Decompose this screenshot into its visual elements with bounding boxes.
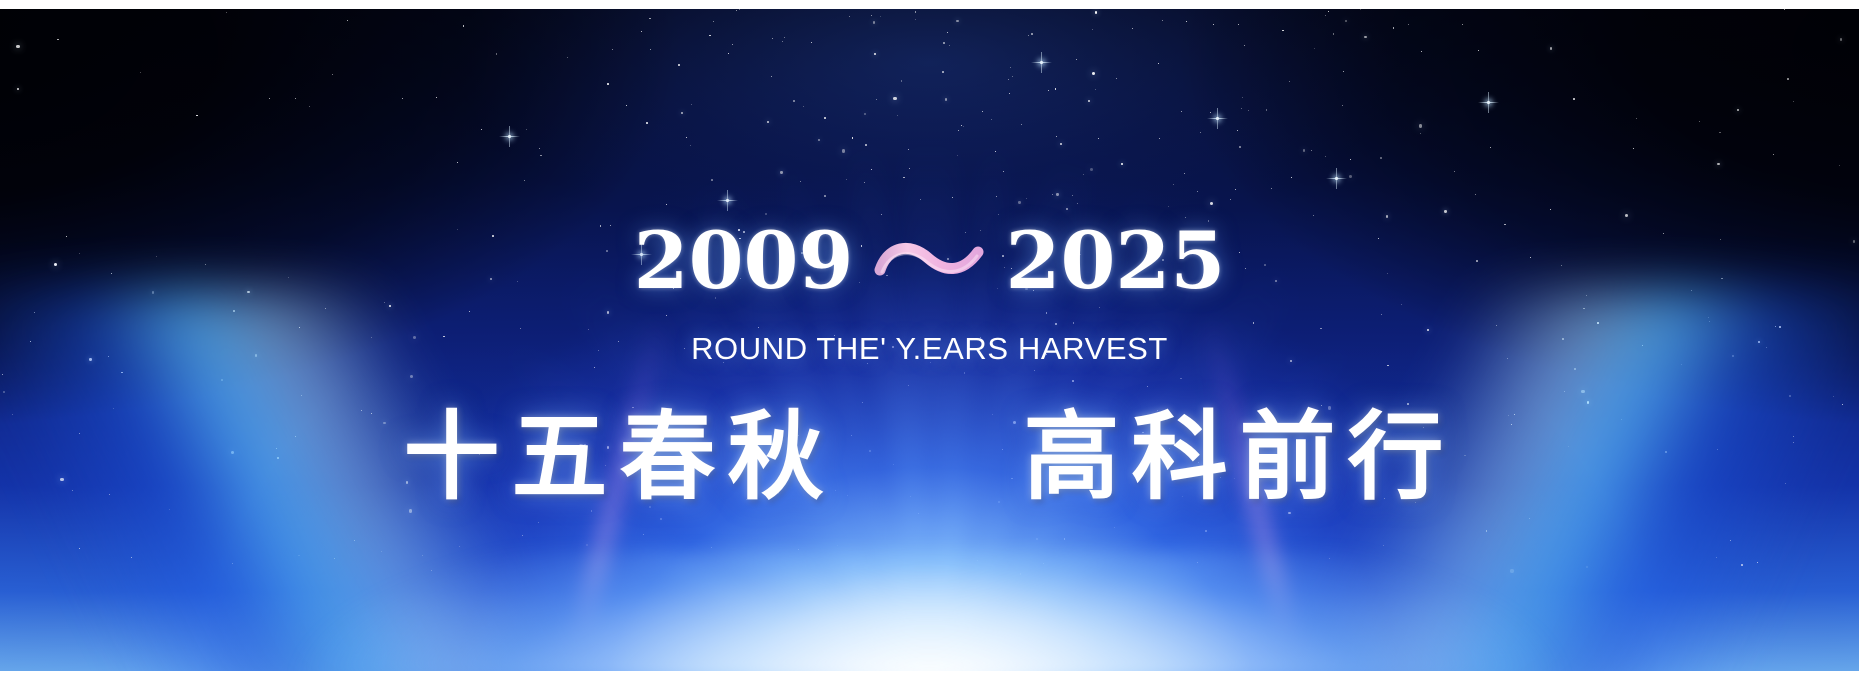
letterbox-strip-top [0,0,1859,9]
year-range: 2009 [0,221,1859,300]
start-year: 2009 [634,221,854,300]
letterbox-strip-bottom [0,671,1859,680]
banner-content: 2009 [0,9,1859,671]
subtitle-tagline: ROUND THE' Y.EARS HARVEST [0,331,1859,367]
anniversary-banner: 2009 [0,0,1859,680]
night-sky-stage: 2009 [0,9,1859,671]
headline-slogan: 十五春秋 高科前行 [0,407,1859,509]
headline-phrase-left: 十五春秋 [404,407,836,509]
wave-dash-tilde-icon [874,226,986,296]
end-year: 2025 [1006,221,1226,300]
headline-phrase-right: 高科前行 [1024,407,1456,509]
